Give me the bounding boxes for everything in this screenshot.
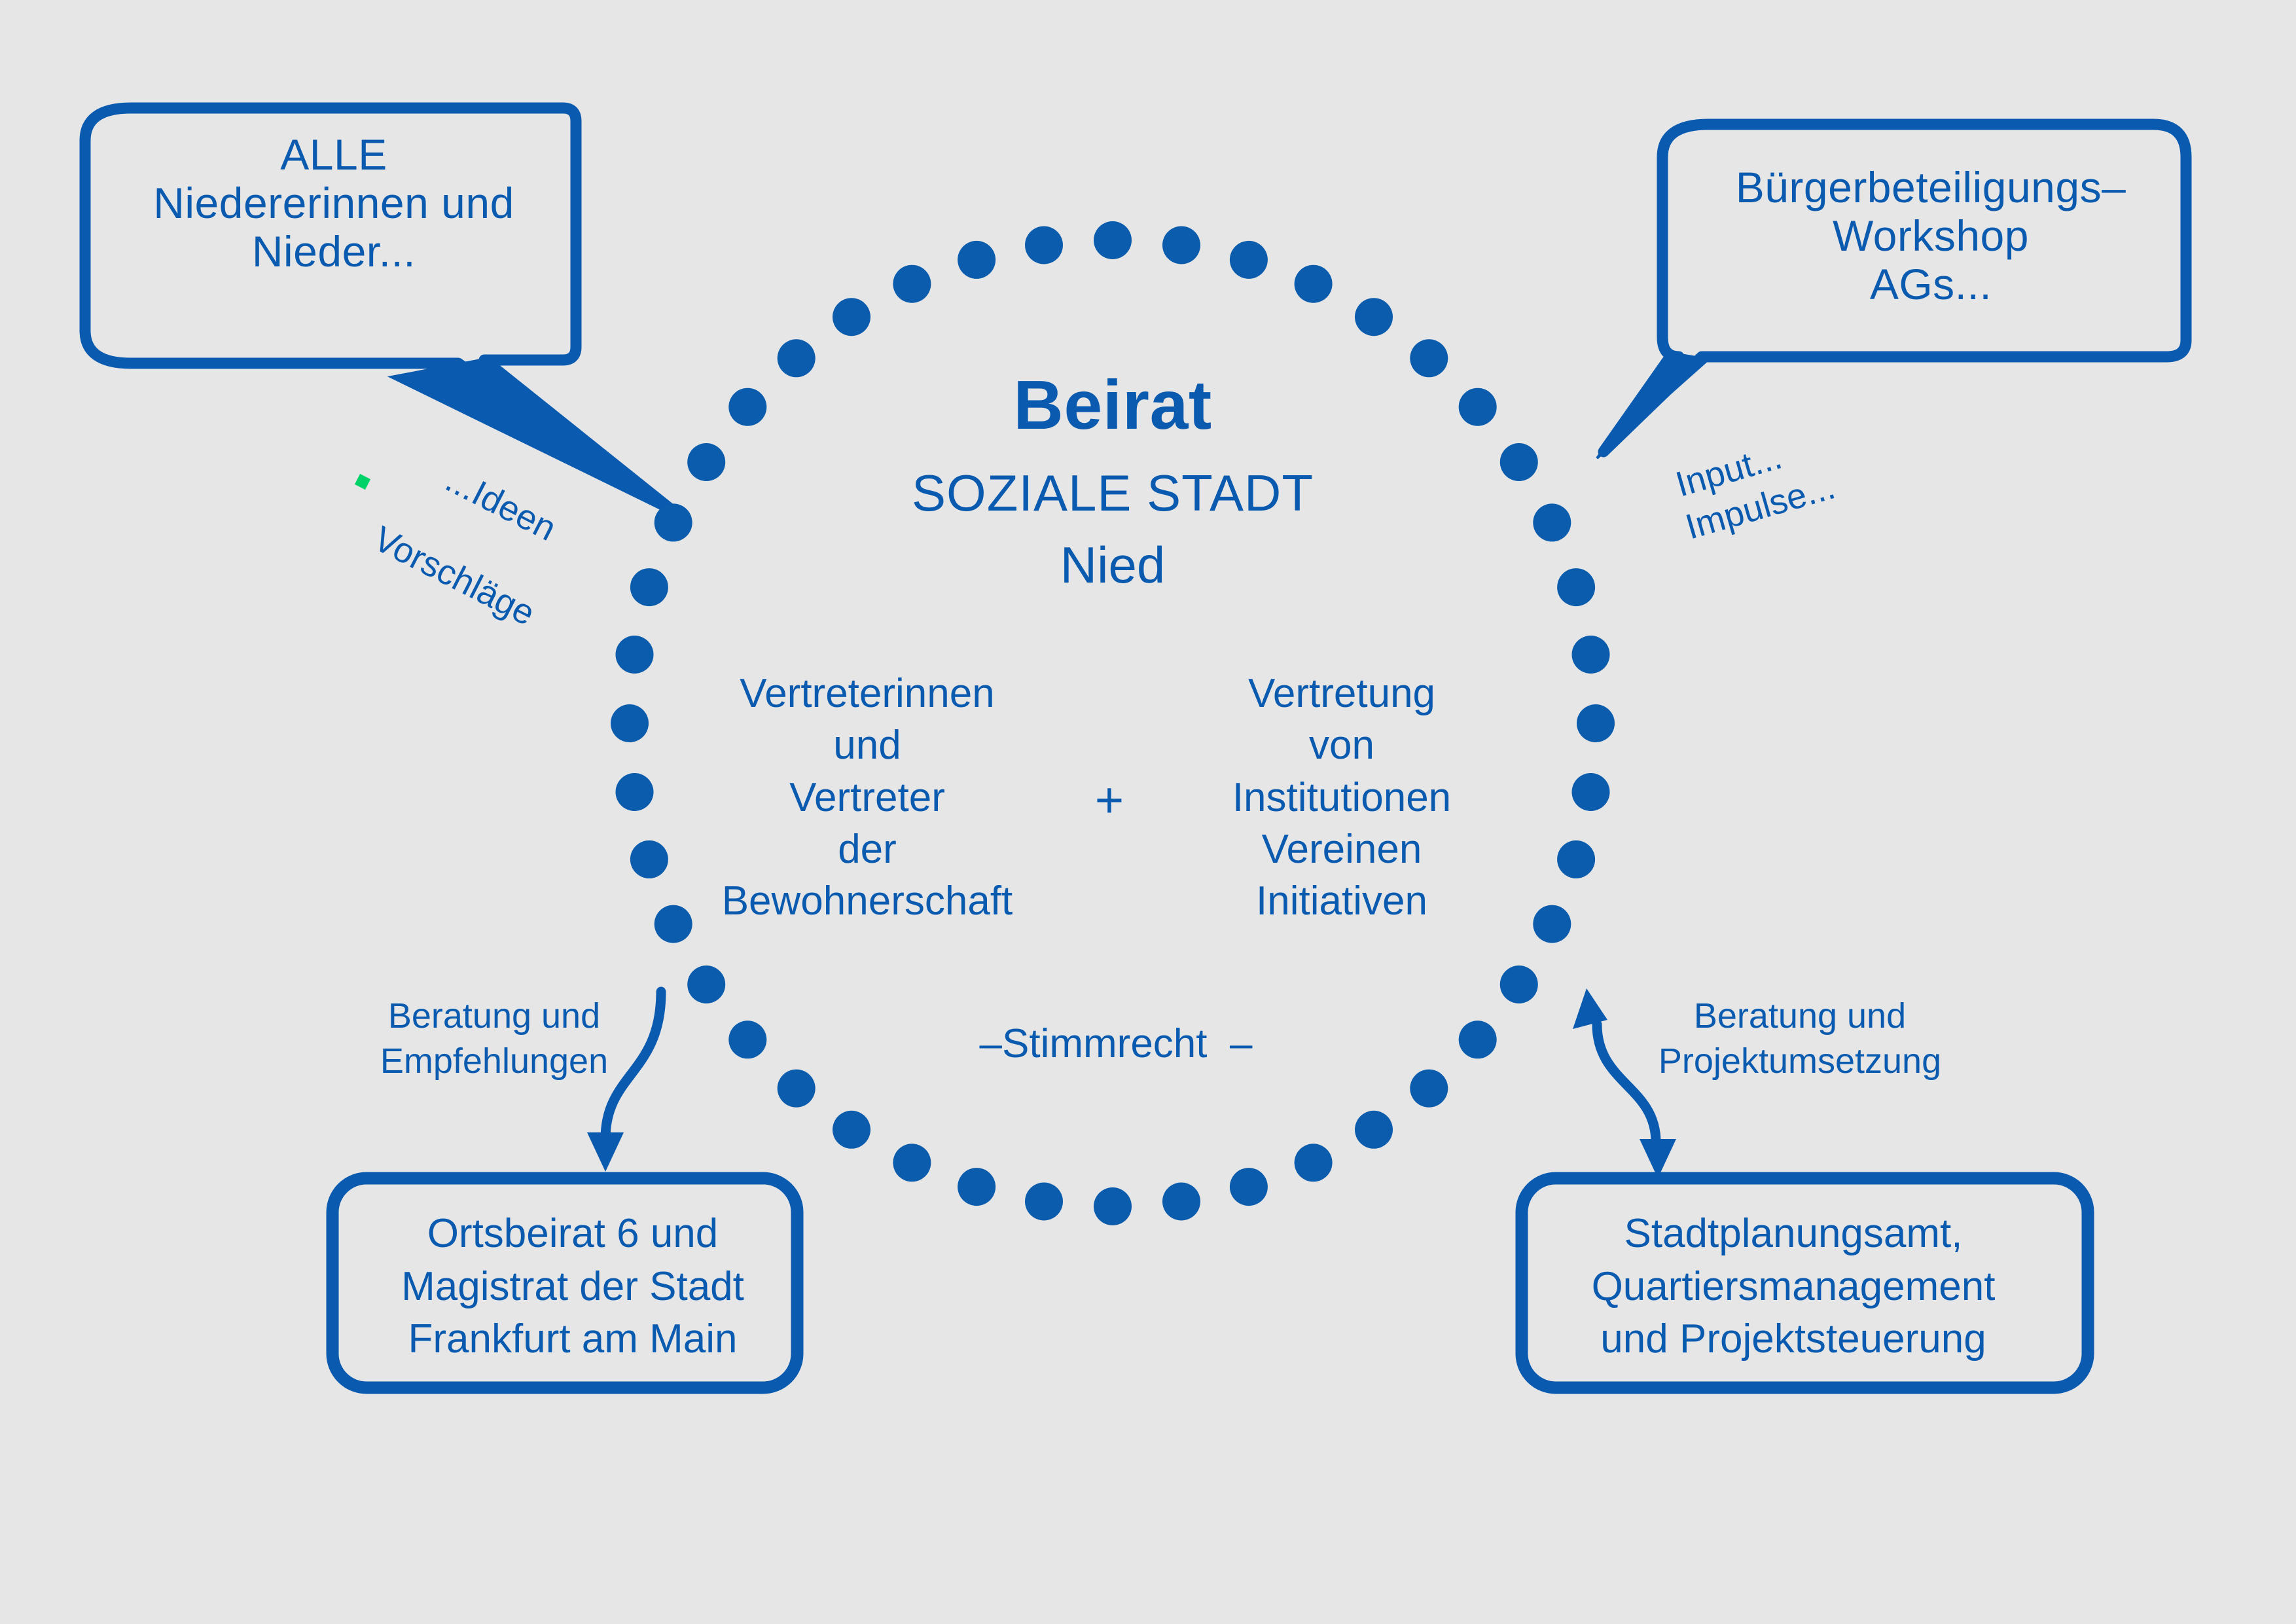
circle-dot <box>1459 1020 1497 1058</box>
circle-dot <box>1459 388 1497 426</box>
circle-dot <box>1230 241 1268 279</box>
circle-dot <box>1533 503 1571 541</box>
circle-dot <box>1500 965 1538 1003</box>
box-ortsbeirat-label: Ortsbeirat 6 und Magistrat der Stadt Fra… <box>340 1208 805 1366</box>
member-group-institutions: Vertretung von Institutionen Vereinen In… <box>1198 668 1486 928</box>
member-group-residents: Vertreterinnen und Vertreter der Bewohne… <box>694 668 1041 928</box>
pointer-left-wedge <box>391 359 681 518</box>
circle-dot <box>893 1144 931 1182</box>
circle-dot <box>1230 1168 1268 1206</box>
circle-dot <box>1533 905 1571 943</box>
box-stadtplanungsamt-label: Stadtplanungsamt, Quartiersmanagement un… <box>1532 1208 2055 1366</box>
circle-dot <box>687 443 725 481</box>
circle-dot <box>611 704 649 742</box>
speech-bubble-left-label: ALLE Niedererinnen und Nieder... <box>92 131 576 276</box>
plus-symbol: + <box>1067 772 1152 828</box>
circle-dot <box>1094 1187 1132 1225</box>
circle-dot <box>1572 773 1610 811</box>
arrow-to-ortsbeirat-head <box>587 1132 624 1172</box>
speech-bubble-right-label: Bürgerbeteiligungs– Workshop AGs... <box>1692 164 2170 309</box>
flow-label-beratung-empfehlungen: Beratung und Empfehlungen <box>340 994 648 1084</box>
circle-dot <box>1355 298 1393 336</box>
circle-dot <box>958 241 996 279</box>
circle-dot <box>616 773 654 811</box>
diagram-canvas: ALLE Niedererinnen und Nieder... Bürgerb… <box>0 0 2296 1624</box>
page-title: Beirat <box>785 367 1440 444</box>
circle-dot <box>1025 1183 1063 1221</box>
circle-dot <box>1572 636 1610 674</box>
circle-dot <box>1355 1111 1393 1149</box>
circle-dot <box>616 636 654 674</box>
circle-dot <box>1162 226 1200 264</box>
circle-dot <box>1577 704 1615 742</box>
circle-dot <box>655 503 692 541</box>
circle-dot <box>1295 1144 1333 1182</box>
circle-dot <box>728 1020 766 1058</box>
arrow-to-stadtplanungsamt-head-up <box>1573 988 1607 1029</box>
voting-rights-note: –Stimmrecht – <box>903 1021 1329 1066</box>
circle-dot <box>1500 443 1538 481</box>
page-subtitle-line1: SOZIALE STADT <box>785 465 1440 522</box>
circle-dot <box>687 965 725 1003</box>
pointer-right <box>1597 353 1708 458</box>
circle-dot <box>1025 226 1063 264</box>
circle-dot <box>728 388 766 426</box>
flow-label-beratung-projektumsetzung: Beratung und Projektumsetzung <box>1630 994 1970 1084</box>
circle-dot <box>833 298 870 336</box>
circle-dot <box>655 905 692 943</box>
pointer-right-wedge <box>1597 353 1708 458</box>
circle-dot <box>1295 265 1333 303</box>
circle-dot <box>1162 1183 1200 1221</box>
circle-dot <box>1410 1070 1448 1108</box>
circle-dot <box>1557 840 1595 878</box>
circle-dot <box>1094 221 1132 259</box>
page-subtitle-line2: Nied <box>785 537 1440 594</box>
circle-dot <box>1557 568 1595 606</box>
circle-dot <box>778 1070 816 1108</box>
circle-dot <box>958 1168 996 1206</box>
circle-dot <box>630 568 668 606</box>
circle-dot <box>833 1111 870 1149</box>
circle-dot <box>893 265 931 303</box>
circle-dot <box>630 840 668 878</box>
pointer-left <box>391 359 681 518</box>
